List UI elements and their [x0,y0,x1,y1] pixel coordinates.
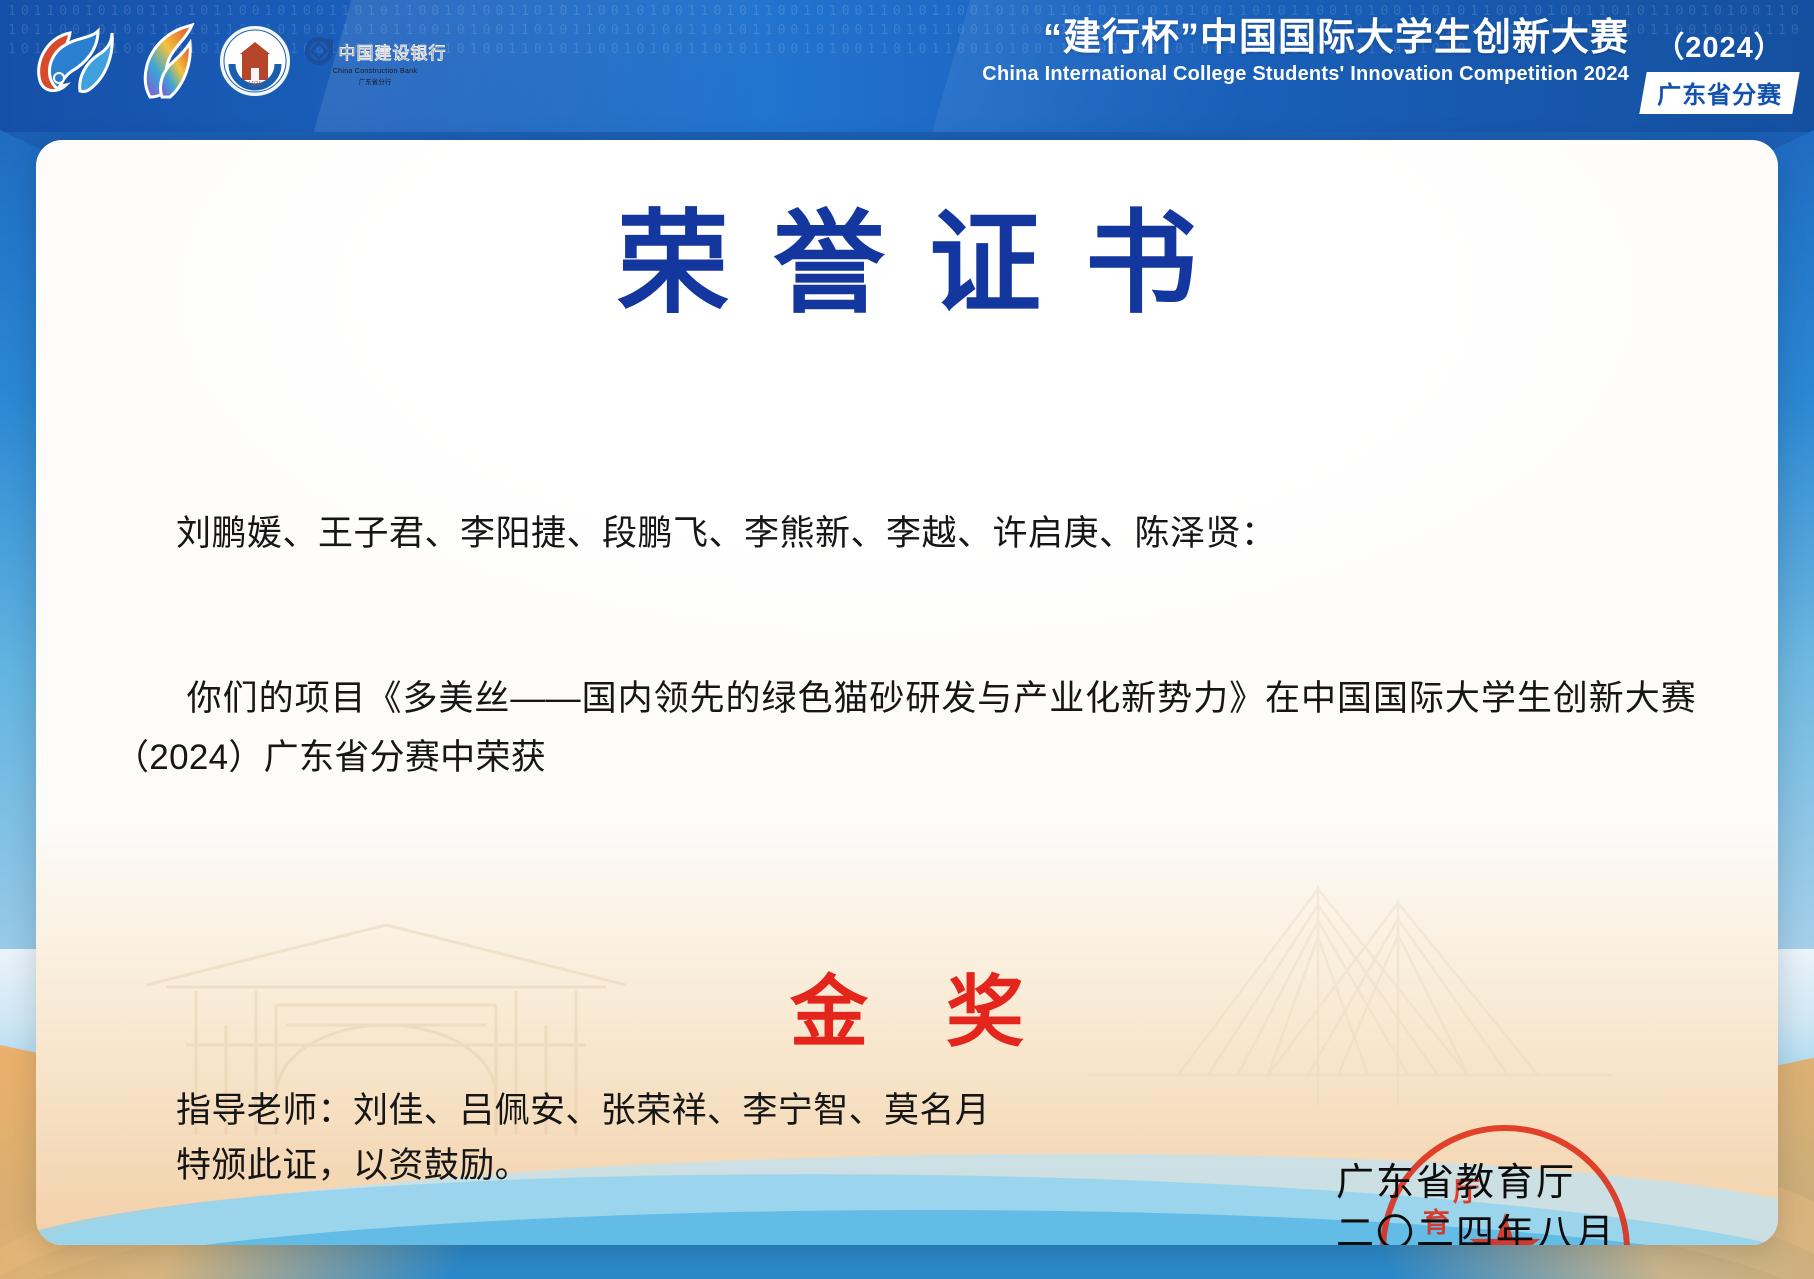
ccb-branch-name: 广东省分行 [359,76,392,86]
issuing-authority: 广东省教育厅 [1336,1158,1616,1209]
province-badge-label: 广东省分赛 [1657,75,1782,110]
issue-date: 二〇二四年八月 [1336,1209,1616,1245]
certificate-body-text: 你们的项目《多美丝——国内领先的绿色猫砂研发与产业化新势力》在中国国际大学生创新… [114,670,1696,788]
competition-title-en: China International College Students' In… [982,62,1629,86]
body-full-text: 你们的项目《多美丝——国内领先的绿色猫砂研发与产业化新势力》在中国国际大学生创新… [114,679,1696,777]
competition-title-cn: “建行杯”中国国际大学生创新大赛 [1043,16,1629,60]
header-title-block: “建行杯”中国国际大学生创新大赛 China International Col… [982,16,1796,114]
award-level: 金奖 [36,950,1778,1062]
competition-wave-logo [28,21,114,101]
svg-text:1936: 1936 [248,80,263,88]
page-header: 1011001010011010110010100110101100101001… [0,0,1814,132]
province-badge: 广东省分赛 [1639,72,1799,114]
university-seal-logo: 1936 [218,24,292,98]
signature-block: 广东省教育厅 二〇二四年八月 编号：202400576 [1336,1158,1616,1245]
ccb-bank-name-cn: 中国建设银行 [339,39,447,64]
ccb-bank-name-en: China Construction Bank [333,68,417,75]
header-logo-group: 1936 中国建设银行 China Construction Bank 广东省分… [28,16,436,106]
ccb-bank-logo: 中国建设银行 China Construction Bank 广东省分行 [314,26,436,96]
certificate-card: 荣誉证书 刘鹏媛、王子君、李阳捷、段鹏飞、李熊新、李越、许启庚、陈泽贤： 你们的… [36,140,1778,1245]
certificate-content: 荣誉证书 刘鹏媛、王子君、李阳捷、段鹏飞、李熊新、李越、许启庚、陈泽贤： 你们的… [36,140,1778,1245]
certificate-title: 荣誉证书 [36,200,1778,329]
competition-year-badge: （2024） [1655,24,1784,66]
certificate-page: 1011001010011010110010100110101100101001… [0,0,1814,1279]
ccb-mark-icon [304,36,334,66]
flame-wing-logo [136,23,196,99]
issue-note: 特颁此证，以资鼓励。 [176,1140,530,1193]
recipient-names: 刘鹏媛、王子君、李阳捷、段鹏飞、李熊新、李越、许启庚、陈泽贤： [176,508,1668,561]
advisor-list: 指导老师：刘佳、吕佩安、张荣祥、李宁智、莫名月 [176,1085,990,1138]
